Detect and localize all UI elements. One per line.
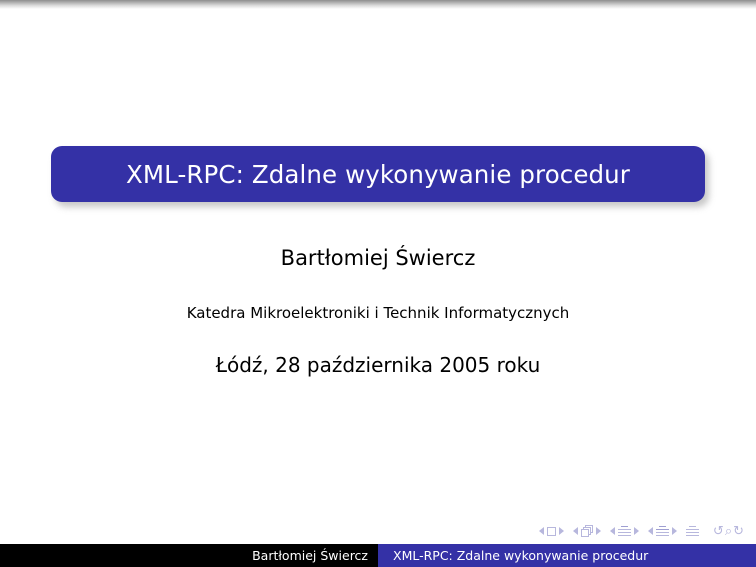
next-section-arrow-icon[interactable] [672, 527, 677, 535]
previous-section-arrow-icon[interactable] [648, 527, 653, 535]
next-frame-arrow-icon[interactable] [596, 527, 601, 535]
date-line: Łódź, 28 października 2005 roku [0, 353, 756, 377]
next-slide-arrow-icon[interactable] [559, 527, 564, 535]
search-icon[interactable]: ⌕ [725, 525, 732, 538]
presentation-slide: XML-RPC: Zdalne wykonywanie procedur Bar… [0, 0, 756, 567]
presentation-lines-icon[interactable] [686, 526, 699, 537]
section-navigation-icon[interactable] [648, 526, 677, 537]
footer-title-label: XML-RPC: Zdalne wykonywanie procedur [393, 548, 648, 563]
subsection-navigation-icon[interactable] [610, 526, 639, 537]
frame-stack-icon[interactable] [581, 525, 593, 537]
top-shading-strip [0, 0, 756, 9]
footer-author-label: Bartłomiej Świercz [252, 548, 368, 563]
title-block-body: XML-RPC: Zdalne wykonywanie procedur [51, 146, 705, 202]
previous-subsection-arrow-icon[interactable] [610, 527, 615, 535]
slide-square-icon[interactable] [547, 527, 556, 536]
footer-title-section: XML-RPC: Zdalne wykonywanie procedur [378, 544, 756, 567]
presentation-navigation-icon[interactable] [686, 526, 699, 537]
subsection-lines-icon[interactable] [618, 526, 631, 537]
page-title: XML-RPC: Zdalne wykonywanie procedur [126, 160, 630, 189]
beamer-navigation-symbols[interactable]: ↺ ⌕ ↻ [539, 522, 744, 540]
back-arrow-icon[interactable]: ↺ [713, 525, 724, 538]
document-navigation-icons[interactable]: ↺ ⌕ ↻ [713, 525, 744, 538]
institute-name: Katedra Mikroelektroniki i Technik Infor… [0, 304, 756, 322]
slide-navigation-icon[interactable] [539, 527, 564, 536]
author-name: Bartłomiej Świercz [0, 246, 756, 270]
footer-bar: Bartłomiej Świercz XML-RPC: Zdalne wykon… [0, 544, 756, 567]
footer-author-section: Bartłomiej Świercz [0, 544, 378, 567]
previous-slide-arrow-icon[interactable] [539, 527, 544, 535]
section-lines-icon[interactable] [656, 526, 669, 537]
previous-frame-arrow-icon[interactable] [573, 527, 578, 535]
next-subsection-arrow-icon[interactable] [634, 527, 639, 535]
title-block: XML-RPC: Zdalne wykonywanie procedur [51, 146, 705, 202]
frame-navigation-icon[interactable] [573, 525, 601, 537]
forward-arrow-icon[interactable]: ↻ [733, 525, 744, 538]
